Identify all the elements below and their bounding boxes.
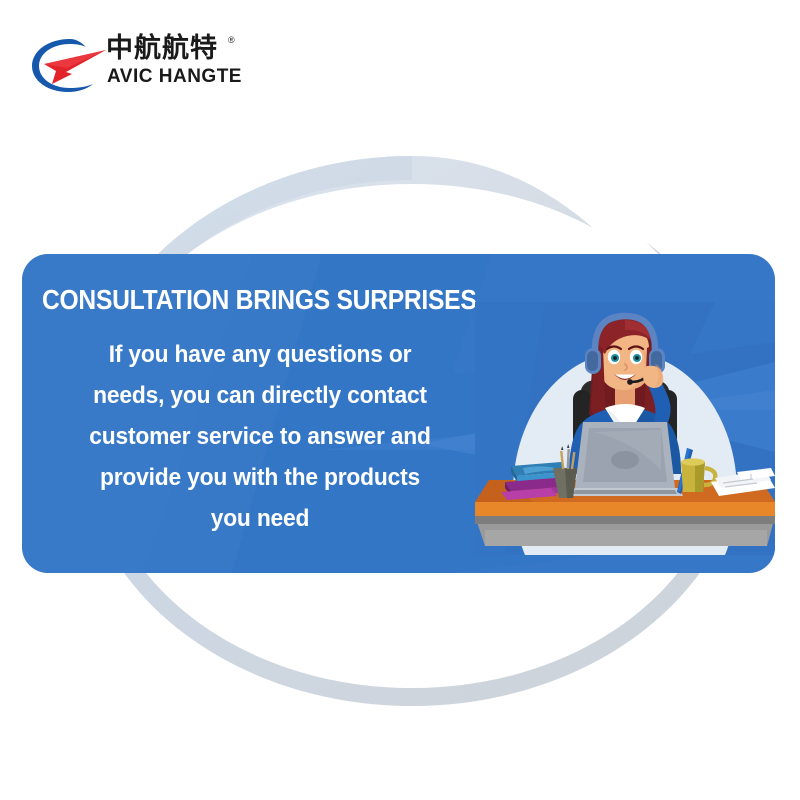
brand-logo-text: 中航航特 ® AVIC HANGTE <box>106 34 246 94</box>
customer-service-agent-illustration <box>475 302 775 555</box>
avic-hangte-logo-icon <box>26 34 112 96</box>
brand-name-english: AVIC HANGTE <box>107 66 242 88</box>
card-body-line: If you have any questions or <box>51 334 469 375</box>
consultation-card: CONSULTATION BRINGS SURPRISES If you hav… <box>22 254 775 573</box>
brand-logo: 中航航特 ® AVIC HANGTE <box>26 30 246 100</box>
card-body-line: needs, you can directly contact <box>51 375 469 416</box>
card-body-text: If you have any questions or needs, you … <box>51 334 469 539</box>
poster-canvas: 中航航特 ® AVIC HANGTE CONSULTATION BRINGS S… <box>0 0 800 800</box>
registered-trademark-icon: ® <box>228 35 235 45</box>
card-body-line: customer service to answer and <box>51 416 469 457</box>
brand-name-chinese: 中航航特 <box>106 34 218 64</box>
card-body-line: provide you with the products <box>51 457 469 498</box>
card-body-line: you need <box>51 498 469 539</box>
card-title: CONSULTATION BRINGS SURPRISES <box>42 284 429 316</box>
